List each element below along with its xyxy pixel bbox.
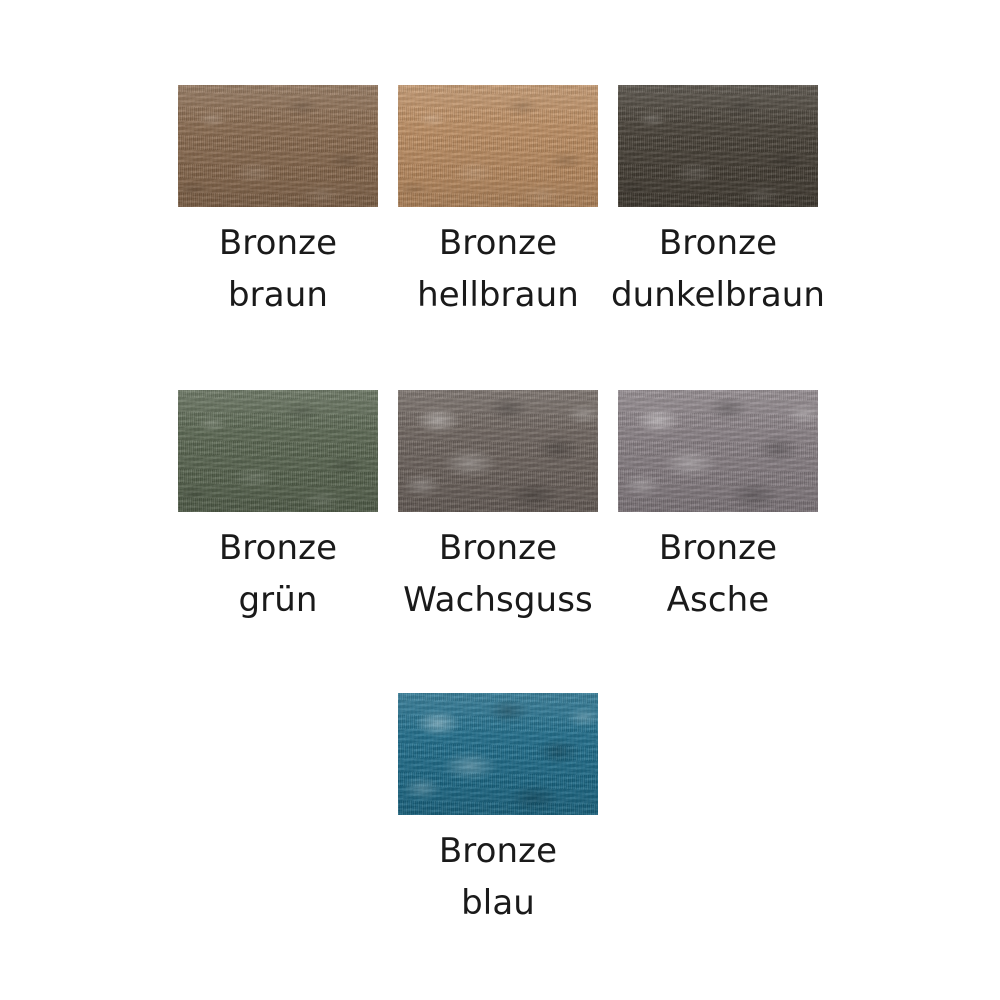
swatch-cell[interactable]: Bronze Asche: [608, 390, 828, 626]
swatch-texture-layer: [618, 390, 818, 512]
swatch-cell[interactable]: Bronze Wachsguss: [388, 390, 608, 626]
swatch-texture-layer: [178, 390, 378, 512]
swatch-texture-layer: [398, 693, 598, 815]
swatch-texture-layer: [178, 390, 378, 512]
swatch-texture-layer: [618, 390, 818, 512]
swatch-texture-layer: [178, 85, 378, 207]
swatch-cell[interactable]: Bronze grün: [168, 390, 388, 626]
swatch-texture-layer: [618, 85, 818, 207]
swatch-texture-layer: [398, 85, 598, 207]
swatch-grid: Bronze braunBronze hellbraunBronze dunke…: [0, 0, 1000, 1000]
swatch-cell[interactable]: Bronze blau: [388, 693, 608, 929]
swatch-label: Bronze dunkelbraun: [608, 217, 828, 321]
swatch-label: Bronze braun: [168, 217, 388, 321]
swatch-color-chip[interactable]: [618, 390, 818, 512]
swatch-texture-layer: [398, 390, 598, 512]
swatch-texture-layer: [398, 693, 598, 815]
swatch-color-chip[interactable]: [618, 85, 818, 207]
swatch-texture-layer: [618, 390, 818, 512]
swatch-color-chip[interactable]: [398, 85, 598, 207]
swatch-label: Bronze blau: [388, 825, 608, 929]
swatch-texture-layer: [618, 85, 818, 207]
swatch-cell[interactable]: Bronze dunkelbraun: [608, 85, 828, 321]
swatch-cell[interactable]: Bronze braun: [168, 85, 388, 321]
swatch-color-chip[interactable]: [178, 85, 378, 207]
swatch-texture-layer: [618, 85, 818, 207]
swatch-texture-layer: [618, 390, 818, 512]
swatch-color-chip[interactable]: [398, 390, 598, 512]
swatch-color-chip[interactable]: [398, 693, 598, 815]
swatch-color-chip[interactable]: [178, 390, 378, 512]
swatch-cell[interactable]: Bronze hellbraun: [388, 85, 608, 321]
swatch-texture-layer: [398, 390, 598, 512]
swatch-texture-layer: [398, 85, 598, 207]
swatch-texture-layer: [178, 390, 378, 512]
swatch-texture-layer: [398, 85, 598, 207]
swatch-texture-layer: [398, 390, 598, 512]
swatch-texture-layer: [398, 693, 598, 815]
swatch-texture-layer: [178, 85, 378, 207]
swatch-texture-layer: [178, 390, 378, 512]
swatch-texture-layer: [178, 85, 378, 207]
swatch-texture-layer: [398, 85, 598, 207]
color-swatch-board: Bronze braunBronze hellbraunBronze dunke…: [0, 0, 1000, 1000]
swatch-texture-layer: [398, 693, 598, 815]
swatch-label: Bronze Asche: [608, 522, 828, 626]
swatch-label: Bronze hellbraun: [388, 217, 608, 321]
swatch-label: Bronze Wachsguss: [388, 522, 608, 626]
swatch-texture-layer: [618, 85, 818, 207]
swatch-texture-layer: [398, 390, 598, 512]
swatch-texture-layer: [178, 85, 378, 207]
swatch-label: Bronze grün: [168, 522, 388, 626]
